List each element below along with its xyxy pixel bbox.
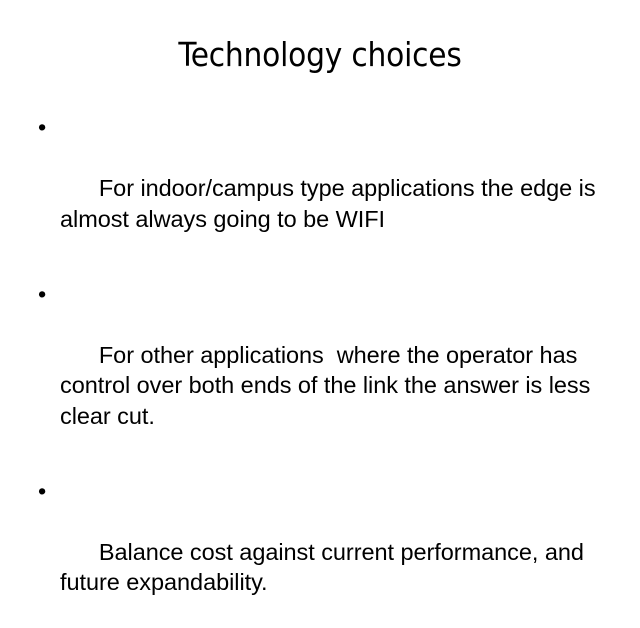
slide-body-content: • For indoor/campus type applications th… xyxy=(34,112,614,628)
list-item: • For other applications where the opera… xyxy=(34,279,614,462)
list-item: • For indoor/campus type applications th… xyxy=(34,112,614,265)
list-item-text: For other applications where the operato… xyxy=(60,342,597,429)
bullet-point-icon: • xyxy=(38,476,52,507)
presentation-slide: Technology choices • For indoor/campus t… xyxy=(0,0,640,480)
bullet-point-icon: • xyxy=(38,279,52,310)
list-item: • Balance cost against current performan… xyxy=(34,476,614,628)
list-item-text: Balance cost against current performance… xyxy=(60,539,590,596)
page-title: Technology choices xyxy=(0,36,640,74)
bullet-point-icon: • xyxy=(38,112,52,143)
list-item-text: For indoor/campus type applications the … xyxy=(60,175,602,232)
